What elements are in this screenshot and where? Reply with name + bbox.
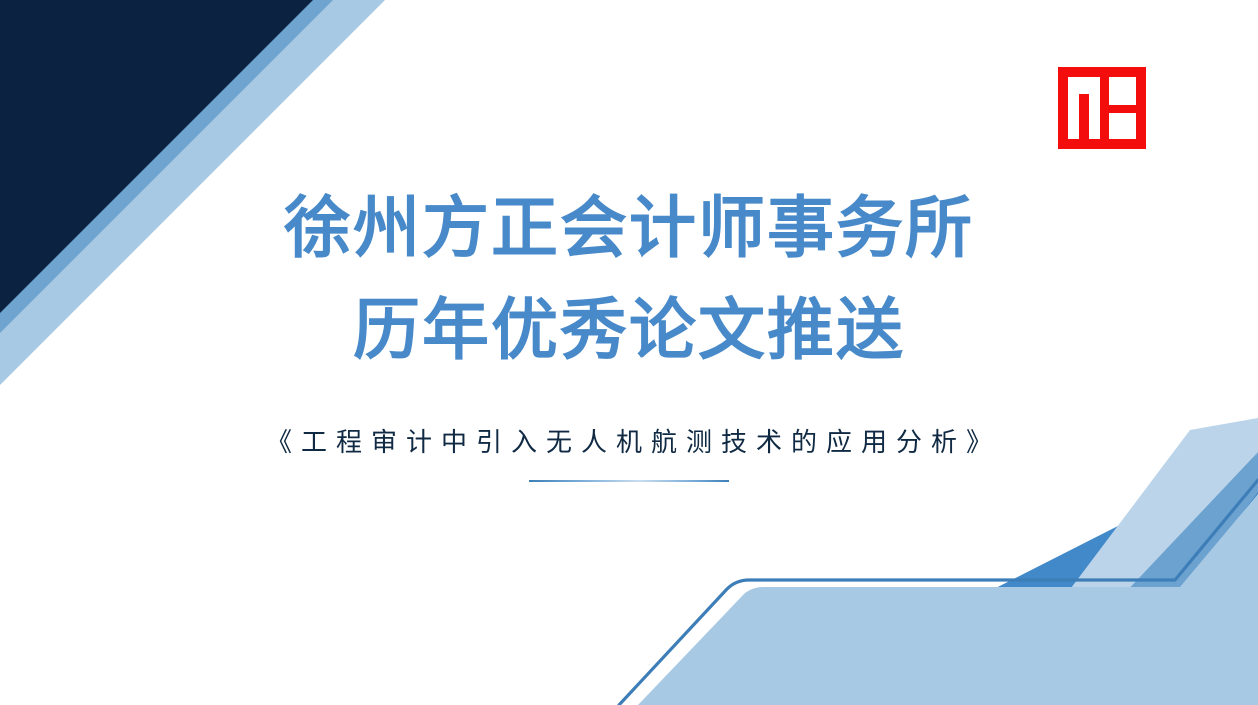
main-title-line-1: 徐州方正会计师事务所 (284, 195, 974, 262)
bottom-right-mid-band (960, 430, 1258, 705)
paper-subtitle: 《工程审计中引入无人机航测技术的应用分析》 (257, 422, 1001, 459)
top-left-mid-blue-stripe (0, 0, 333, 333)
bottom-right-accent-wedge (765, 455, 1258, 705)
fangzheng-logo-icon (1058, 67, 1146, 149)
presentation-slide: 徐州方正会计师事务所 历年优秀论文推送 《工程审计中引入无人机航测技术的应用分析… (0, 0, 1258, 705)
subtitle-divider (529, 480, 729, 482)
bottom-banner-outline-stroke (619, 480, 1258, 705)
bottom-right-pale-band (1065, 418, 1258, 596)
bottom-banner-fill (638, 494, 1258, 705)
top-left-navy-triangle (0, 0, 313, 313)
main-title-line-2: 历年优秀论文推送 (353, 297, 905, 364)
